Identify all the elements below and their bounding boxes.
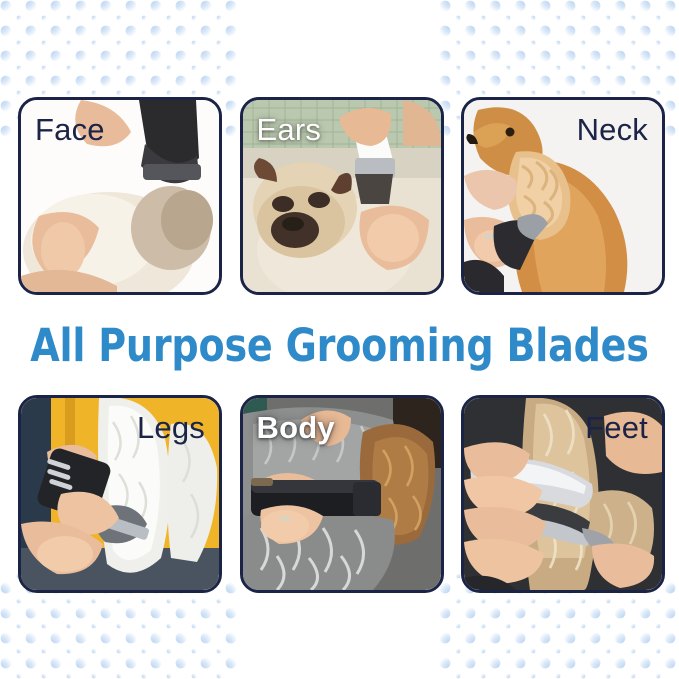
panel-row-bottom: Legs bbox=[18, 395, 665, 593]
panel-feet: Feet bbox=[461, 395, 665, 593]
panel-label-feet: Feet bbox=[585, 412, 648, 443]
panel-label-legs: Legs bbox=[137, 412, 205, 443]
headline-all-purpose-grooming-blades: All Purpose Grooming Blades bbox=[20, 316, 658, 374]
panel-legs: Legs bbox=[18, 395, 222, 593]
panel-label-neck: Neck bbox=[577, 114, 648, 145]
panel-ears: Ears bbox=[240, 97, 444, 295]
infographic-canvas: Face bbox=[0, 0, 679, 679]
panel-label-face: Face bbox=[35, 114, 105, 145]
panel-neck: Neck bbox=[461, 97, 665, 295]
panel-label-body: Body bbox=[257, 412, 335, 443]
panel-row-top: Face bbox=[18, 97, 665, 295]
panel-body: Body bbox=[240, 395, 444, 593]
panel-face: Face bbox=[18, 97, 222, 295]
panel-label-ears: Ears bbox=[257, 114, 322, 145]
